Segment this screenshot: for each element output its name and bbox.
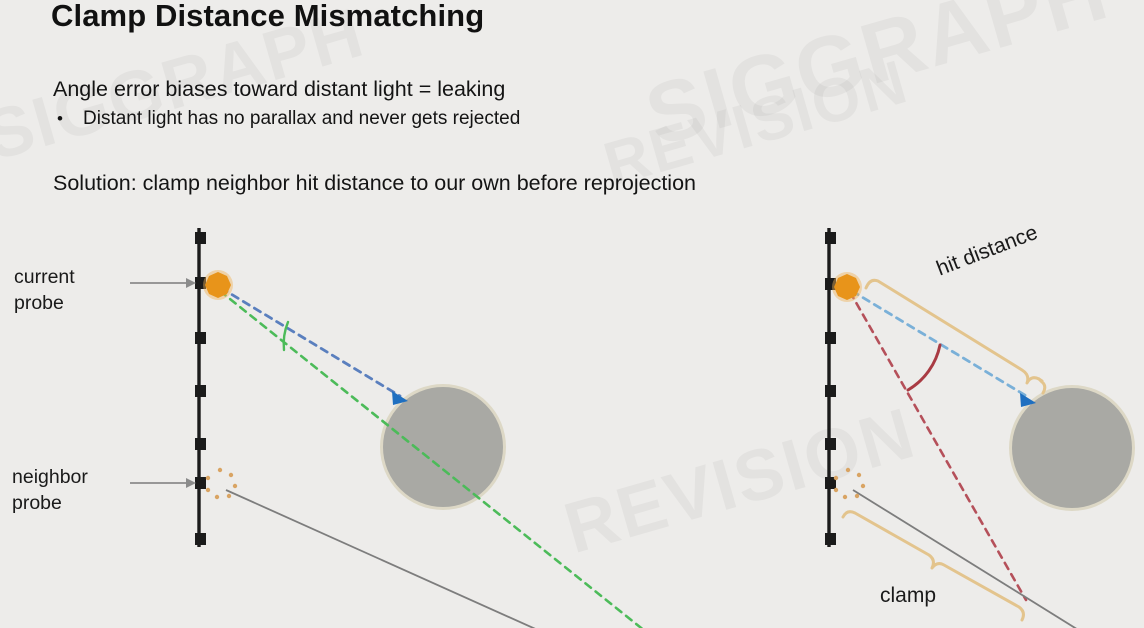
neighbor-probe-dot — [855, 494, 859, 498]
bullet-list-item: • Distant light has no parallax and neve… — [53, 106, 520, 132]
wall-tick — [195, 533, 206, 545]
clamp-label: clamp — [880, 583, 936, 609]
green-angle-arc — [284, 322, 288, 350]
solution-line: Solution: clamp neighbor hit distance to… — [53, 168, 696, 198]
neighbor-probe-label: neighbor probe — [12, 464, 88, 516]
occluder-circle-core — [1012, 388, 1132, 508]
neighbor-probe-dot — [857, 473, 861, 477]
current-probe-label-line1: current — [14, 264, 75, 290]
slide-canvas: SIGGRAPH REVISION SIGGRAPH REVISION Clam… — [0, 0, 1144, 628]
statement-line: Angle error biases toward distant light … — [53, 74, 520, 104]
neighbor-probe-dot — [218, 468, 222, 472]
neighbor-probe-dot — [843, 495, 847, 499]
current-probe-leader-arrow — [130, 278, 196, 288]
bullet-text: Distant light has no parallax and never … — [83, 106, 520, 132]
neighbor-probe-label-line2: probe — [12, 490, 88, 516]
wall-tick — [825, 232, 836, 244]
current-probe-label: current probe — [14, 264, 75, 316]
wall-tick — [825, 533, 836, 545]
neighbor-probe-marker — [206, 468, 237, 499]
current-probe-label-line2: probe — [14, 290, 75, 316]
red-clamp-ray — [850, 292, 1026, 600]
red-angle-arc — [908, 345, 940, 390]
neighbor-probe-dot — [233, 484, 237, 488]
left-diagram — [130, 228, 645, 628]
neighbor-probe-dot — [229, 473, 233, 477]
wall-tick — [825, 385, 836, 397]
blue-hit-ray — [221, 288, 400, 396]
page-title: Clamp Distance Mismatching — [51, 0, 484, 34]
neighbor-probe-dot — [846, 468, 850, 472]
wall-tick — [195, 385, 206, 397]
body-text-block: Angle error biases toward distant light … — [53, 74, 520, 132]
neighbor-probe-leader-arrow — [130, 478, 196, 488]
leader-arrowhead-icon — [186, 478, 196, 488]
wall-tick — [825, 332, 836, 344]
hit-distance-bracket — [866, 280, 1042, 383]
leader-arrowhead-icon — [186, 278, 196, 288]
neighbor-probe-dot — [206, 488, 210, 492]
right-diagram — [825, 228, 1135, 628]
neighbor-probe-dot — [834, 476, 838, 480]
neighbor-probe-dot — [215, 495, 219, 499]
hit-distance-bracket-tip — [1039, 379, 1045, 393]
bullet-marker-icon: • — [53, 106, 83, 132]
neighbor-probe-dot — [861, 484, 865, 488]
neighbor-probe-dot — [227, 494, 231, 498]
wall-tick — [195, 477, 206, 489]
neighbor-probe-dot — [834, 488, 838, 492]
wall-tick — [195, 232, 206, 244]
neighbor-probe-label-line1: neighbor — [12, 464, 88, 490]
occluder-circle-core — [383, 387, 503, 507]
wall-tick — [195, 332, 206, 344]
wall-tick — [195, 438, 206, 450]
neighbor-probe-dot — [206, 476, 210, 480]
wall-tick — [825, 438, 836, 450]
